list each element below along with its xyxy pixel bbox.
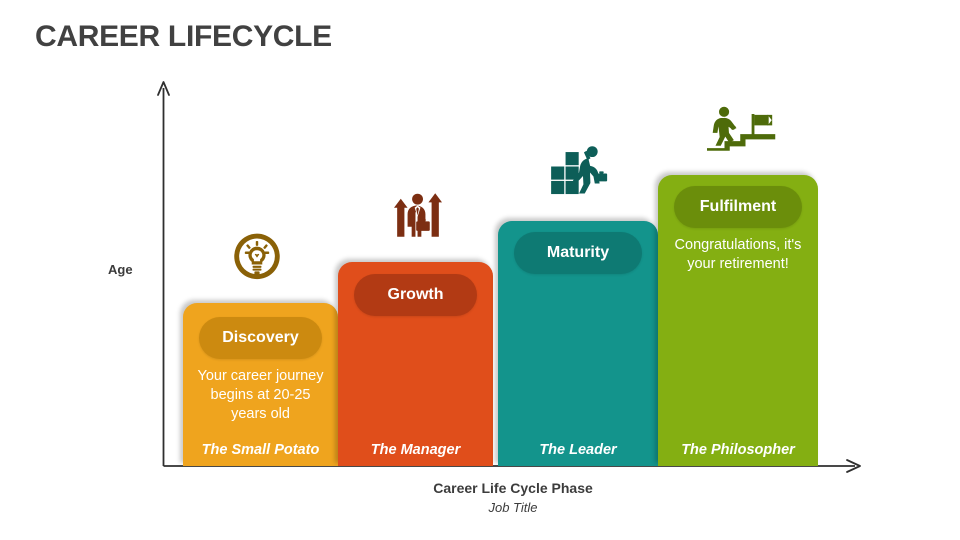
bar-growth[interactable]: Growth The Manager — [338, 262, 493, 466]
businessman-growth-arrows-icon — [389, 186, 447, 244]
bar-role-growth: The Manager — [338, 442, 493, 458]
slide-canvas: CAREER LIFECYCLE Age Career Life Cycle P… — [0, 0, 960, 540]
bar-role-fulfilment: The Philosopher — [658, 442, 818, 458]
bar-role-discovery: The Small Potato — [183, 442, 338, 458]
bar-role-maturity: The Leader — [498, 442, 658, 458]
bar-discovery[interactable]: Discovery Your career journey begins at … — [183, 303, 338, 466]
bar-fulfilment[interactable]: Fulfilment Congratulations, it's your re… — [658, 175, 818, 466]
lightbulb-idea-icon — [231, 232, 283, 284]
bar-phase-label: Growth — [388, 286, 444, 304]
bar-label-pill-fulfilment[interactable]: Fulfilment — [674, 186, 802, 228]
x-axis-sublabel: Job Title — [163, 500, 863, 515]
bar-phase-label: Discovery — [222, 329, 299, 347]
bar-label-pill-maturity[interactable]: Maturity — [514, 232, 642, 274]
x-axis-arrowhead-icon — [847, 460, 860, 472]
bar-label-pill-discovery[interactable]: Discovery — [199, 317, 322, 359]
y-axis-label: Age — [108, 262, 133, 277]
x-axis-label: Career Life Cycle Phase — [163, 480, 863, 496]
bar-description-discovery: Your career journey begins at 20-25 year… — [191, 367, 330, 424]
bar-label-pill-growth[interactable]: Growth — [354, 274, 477, 316]
bar-phase-label: Maturity — [547, 244, 609, 262]
bar-description-fulfilment: Congratulations, it's your retirement! — [666, 236, 810, 274]
page-title: CAREER LIFECYCLE — [35, 20, 332, 54]
bar-maturity[interactable]: Maturity The Leader — [498, 221, 658, 466]
bar-phase-label: Fulfilment — [700, 198, 776, 216]
person-climbing-blocks-icon — [549, 142, 611, 198]
person-stairs-flag-icon — [707, 105, 777, 151]
y-axis-arrowhead-icon — [158, 82, 169, 95]
